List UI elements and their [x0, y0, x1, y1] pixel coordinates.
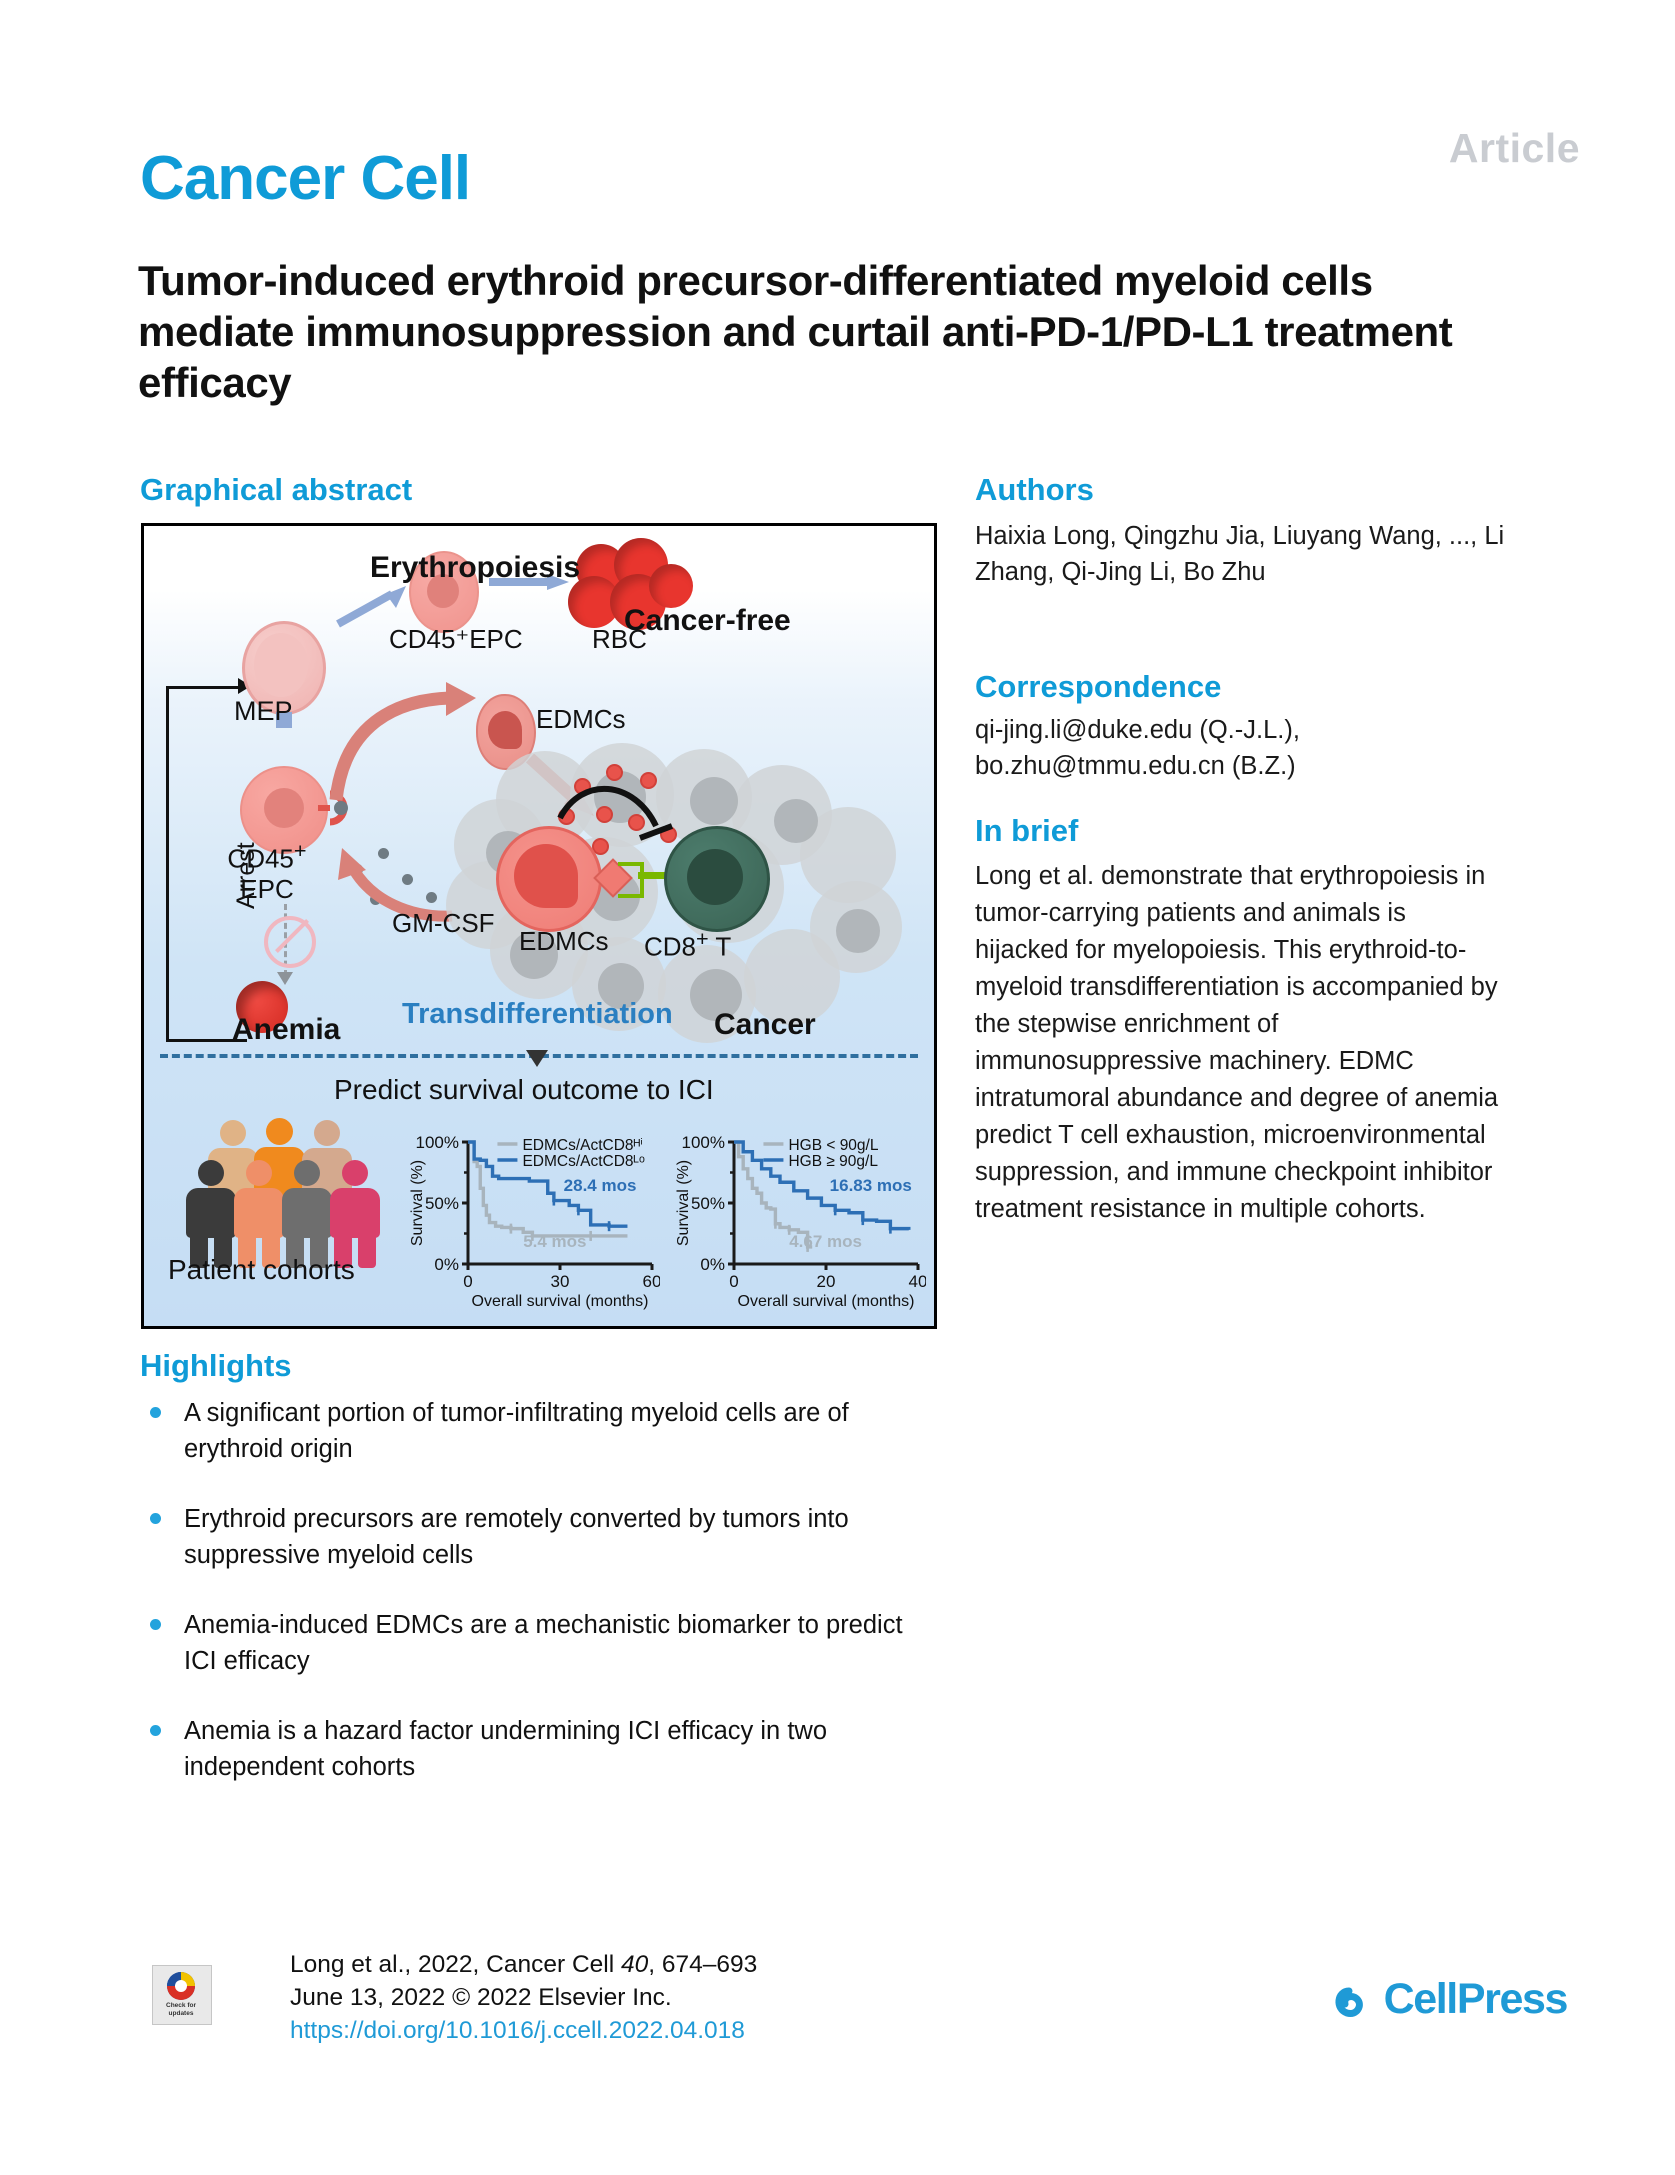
label-rbc: RBC — [592, 624, 647, 655]
arrow-mep-to-epc-icon — [336, 584, 410, 628]
svg-text:Overall survival (months): Overall survival (months) — [472, 1293, 649, 1310]
crossmark-icon — [162, 1971, 200, 2001]
highlight-text: A significant portion of tumor-infiltrat… — [184, 1399, 849, 1463]
survival-chart-edmc: 0%50%100%03060EDMCs/ActCD8ᴴⁱEDMCs/ActCD8… — [406, 1120, 660, 1310]
highlight-text: Anemia is a hazard factor undermining IC… — [184, 1717, 827, 1781]
rbc-icon — [649, 564, 693, 608]
crossmark-label: Check for updates — [155, 2002, 207, 2018]
label-mep: MEP — [234, 696, 293, 727]
list-item: Anemia-induced EDMCs are a mechanistic b… — [142, 1607, 942, 1679]
label-transdifferentiation: Transdifferentiation — [402, 998, 673, 1031]
label-anemia: Anemia — [232, 1013, 340, 1047]
receptor-icon — [618, 862, 644, 898]
article-type-label: Article — [1449, 125, 1580, 172]
svg-text:EDMCs/ActCD8ᴸᵒ: EDMCs/ActCD8ᴸᵒ — [522, 1153, 645, 1170]
svg-text:0: 0 — [463, 1272, 472, 1291]
cd45-epc-nucleus-icon — [264, 788, 304, 828]
journal-cover-page: Article Cancer Cell Tumor-induced erythr… — [0, 0, 1675, 2175]
svg-text:0%: 0% — [434, 1255, 459, 1274]
label-erythropoiesis: Erythropoiesis — [370, 551, 580, 585]
label-gm-csf: GM-CSF — [392, 908, 495, 939]
svg-text:4.67 mos: 4.67 mos — [789, 1232, 862, 1251]
bullet-icon — [150, 1725, 161, 1736]
highlights-heading: Highlights — [140, 1348, 292, 1384]
highlights-list: A significant portion of tumor-infiltrat… — [142, 1395, 942, 1819]
bullet-icon — [150, 1513, 161, 1524]
svg-text:50%: 50% — [691, 1194, 725, 1213]
svg-text:50%: 50% — [425, 1194, 459, 1213]
label-arrest: Arrest — [232, 842, 261, 909]
correspondence-heading: Correspondence — [975, 669, 1221, 705]
svg-text:Survival (%): Survival (%) — [409, 1160, 426, 1246]
graphical-abstract-heading: Graphical abstract — [140, 472, 412, 508]
publisher-logo-text: CellPress — [1384, 1975, 1567, 2024]
list-item: Anemia is a hazard factor undermining IC… — [142, 1713, 942, 1785]
svg-text:60: 60 — [643, 1272, 660, 1291]
label-edmcs-upper: EDMCs — [536, 704, 626, 735]
bullet-icon — [150, 1619, 161, 1630]
svg-text:Overall survival (months): Overall survival (months) — [738, 1293, 915, 1310]
tumor-nucleus-icon — [836, 909, 880, 953]
svg-text:20: 20 — [817, 1272, 836, 1291]
svg-text:Survival (%): Survival (%) — [675, 1160, 692, 1246]
citation-line-2: June 13, 2022 © 2022 Elsevier Inc. — [290, 1984, 672, 2011]
label-cancer: Cancer — [714, 1008, 816, 1042]
graphical-abstract-figure: Erythropoiesis Cancer-free CD45⁺EPC RBC … — [141, 523, 937, 1329]
page-title: Tumor-induced erythroid precursor-differ… — [138, 255, 1478, 408]
in-brief-heading: In brief — [975, 813, 1078, 849]
cd8-t-nucleus-icon — [687, 849, 743, 905]
label-cancer-free: Cancer-free — [624, 604, 791, 638]
svg-text:HGB ≥ 90g/L: HGB ≥ 90g/L — [788, 1153, 878, 1170]
label-cd8-t: CD8+ T — [644, 926, 731, 963]
citation-volume: 40 — [621, 1951, 648, 1978]
highlight-text: Anemia-induced EDMCs are a mechanistic b… — [184, 1611, 903, 1675]
predict-arrow-icon — [526, 1050, 548, 1067]
svg-text:HGB < 90g/L: HGB < 90g/L — [788, 1137, 878, 1154]
tumor-nucleus-icon — [690, 777, 738, 825]
svg-text:EDMCs/ActCD8ᴴⁱ: EDMCs/ActCD8ᴴⁱ — [522, 1137, 643, 1154]
edmc-large-nucleus-icon — [514, 844, 578, 908]
citation-line-1b: , 674–693 — [648, 1951, 757, 1978]
patient-cohort-pictogram — [190, 1116, 396, 1256]
tumor-nucleus-icon — [774, 799, 818, 843]
journal-title: Cancer Cell — [140, 143, 470, 214]
author-list: Haixia Long, Qingzhu Jia, Liuyang Wang, … — [975, 518, 1505, 590]
authors-heading: Authors — [975, 472, 1094, 508]
label-cd45-epc: CD45+EPC — [212, 836, 322, 904]
citation-block: Long et al., 2022, Cancer Cell 40, 674–6… — [290, 1948, 757, 2047]
label-edmcs-tumor: EDMCs — [519, 926, 609, 957]
svg-text:28.4 mos: 28.4 mos — [564, 1176, 637, 1195]
label-cd45-epc-top: CD45⁺EPC — [389, 624, 523, 655]
svg-text:0: 0 — [729, 1272, 738, 1291]
svg-text:30: 30 — [551, 1272, 570, 1291]
arrest-arrow-icon — [277, 972, 293, 985]
svg-text:0%: 0% — [700, 1255, 725, 1274]
citation-line-1a: Long et al., 2022, Cancer Cell — [290, 1951, 621, 1978]
in-brief-text: Long et al. demonstrate that erythropoie… — [975, 858, 1505, 1228]
mep-nucleus-icon — [254, 633, 308, 697]
label-patient-cohorts: Patient cohorts — [168, 1254, 355, 1286]
cellpress-logo-icon — [1333, 1983, 1379, 2023]
svg-text:40: 40 — [909, 1272, 926, 1291]
survival-chart-hgb: 0%50%100%02040HGB < 90g/LHGB ≥ 90g/L16.8… — [672, 1120, 926, 1310]
svg-text:16.83 mos: 16.83 mos — [830, 1176, 912, 1195]
svg-text:100%: 100% — [416, 1133, 459, 1152]
svg-text:5.4 mos: 5.4 mos — [523, 1232, 586, 1251]
list-item: Erythroid precursors are remotely conver… — [142, 1501, 942, 1573]
bullet-icon — [150, 1407, 161, 1418]
highlight-text: Erythroid precursors are remotely conver… — [184, 1505, 849, 1569]
svg-text:100%: 100% — [682, 1133, 725, 1152]
list-item: A significant portion of tumor-infiltrat… — [142, 1395, 942, 1467]
arrest-prohibition-icon — [264, 916, 316, 968]
correspondence-emails[interactable]: qi-jing.li@duke.edu (Q.-J.L.), bo.zhu@tm… — [975, 712, 1505, 784]
label-predict-survival: Predict survival outcome to ICI — [334, 1074, 714, 1106]
doi-link[interactable]: https://doi.org/10.1016/j.ccell.2022.04.… — [290, 2017, 745, 2044]
